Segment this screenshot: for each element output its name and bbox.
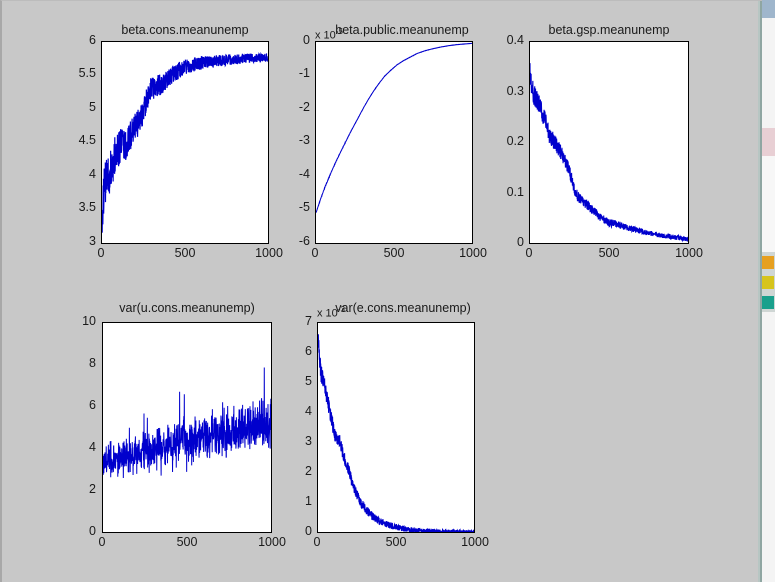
background-window-body-4 <box>760 312 775 582</box>
background-window-titlebar <box>760 0 775 18</box>
background-window-body-1 <box>760 18 775 128</box>
y-axis-exponent-label: x 10-3 <box>317 303 345 321</box>
y-tick-label: 5 <box>60 101 96 114</box>
yellow-note-icon[interactable] <box>761 276 774 289</box>
plot-area[interactable] <box>101 41 269 244</box>
x-tick-label: 500 <box>171 536 203 549</box>
plot-area[interactable] <box>102 322 272 533</box>
x-tick-label: 500 <box>169 247 201 260</box>
y-tick-label: -1 <box>280 67 310 80</box>
y-tick-label: 0 <box>280 34 310 47</box>
x-tick-label: 0 <box>301 247 329 260</box>
y-tick-label: 6 <box>64 399 96 412</box>
x-tick-label: 0 <box>515 247 543 260</box>
y-tick-label: 6 <box>284 345 312 358</box>
plot-area[interactable] <box>315 41 473 244</box>
x-tick-label: 1000 <box>248 247 290 260</box>
y-tick-label: 4 <box>64 441 96 454</box>
x-tick-label: 1000 <box>668 247 710 260</box>
y-tick-label: 3.5 <box>60 201 96 214</box>
x-tick-label: 1000 <box>454 536 496 549</box>
y-axis-exponent-label: x 10-5 <box>315 25 343 43</box>
x-tick-label: 500 <box>378 247 410 260</box>
y-tick-label: 0.2 <box>492 135 524 148</box>
background-window-body-2 <box>760 128 775 156</box>
x-tick-label: 500 <box>380 536 412 549</box>
figure-window-root: beta.cons.meanunemp 6 5.5 5 4.5 4 3.5 3 … <box>0 0 775 582</box>
y-tick-label: -5 <box>280 201 310 214</box>
x-tick-label: 500 <box>593 247 625 260</box>
x-tick-label: 1000 <box>452 247 494 260</box>
y-tick-label: 10 <box>64 315 96 328</box>
y-tick-label: 3 <box>284 435 312 448</box>
y-tick-label: 2 <box>284 465 312 478</box>
y-tick-label: -2 <box>280 101 310 114</box>
y-tick-label: 2 <box>64 483 96 496</box>
y-tick-label: 4 <box>60 168 96 181</box>
y-tick-label: 6 <box>60 34 96 47</box>
y-tick-label: 8 <box>64 357 96 370</box>
x-tick-label: 0 <box>88 536 116 549</box>
x-tick-label: 0 <box>303 536 331 549</box>
subplot-title: beta.gsp.meanunemp <box>529 23 689 37</box>
y-tick-label: 0.1 <box>492 186 524 199</box>
y-tick-label: -4 <box>280 168 310 181</box>
background-window-body-3 <box>760 156 775 252</box>
y-tick-label: -3 <box>280 134 310 147</box>
subplot-title: var(u.cons.meanunemp) <box>102 301 272 315</box>
x-tick-label: 0 <box>87 247 115 260</box>
y-tick-label: 5.5 <box>60 67 96 80</box>
y-tick-label: 4.5 <box>60 134 96 147</box>
matlab-figure-window: beta.cons.meanunemp 6 5.5 5 4.5 4 3.5 3 … <box>0 0 762 582</box>
y-tick-label: 1 <box>284 495 312 508</box>
plot-area[interactable] <box>529 41 689 244</box>
y-tick-label: 0.3 <box>492 85 524 98</box>
y-tick-label: 5 <box>284 375 312 388</box>
window-edge-inner <box>760 1 762 582</box>
plot-area[interactable] <box>317 322 475 533</box>
teal-app-icon[interactable] <box>761 296 774 309</box>
y-tick-label: 4 <box>284 405 312 418</box>
y-tick-label: 7 <box>284 315 312 328</box>
background-window-strip[interactable] <box>760 0 775 582</box>
y-tick-label: 0.4 <box>492 34 524 47</box>
subplot-title: beta.cons.meanunemp <box>101 23 269 37</box>
orange-folder-icon[interactable] <box>761 256 774 269</box>
